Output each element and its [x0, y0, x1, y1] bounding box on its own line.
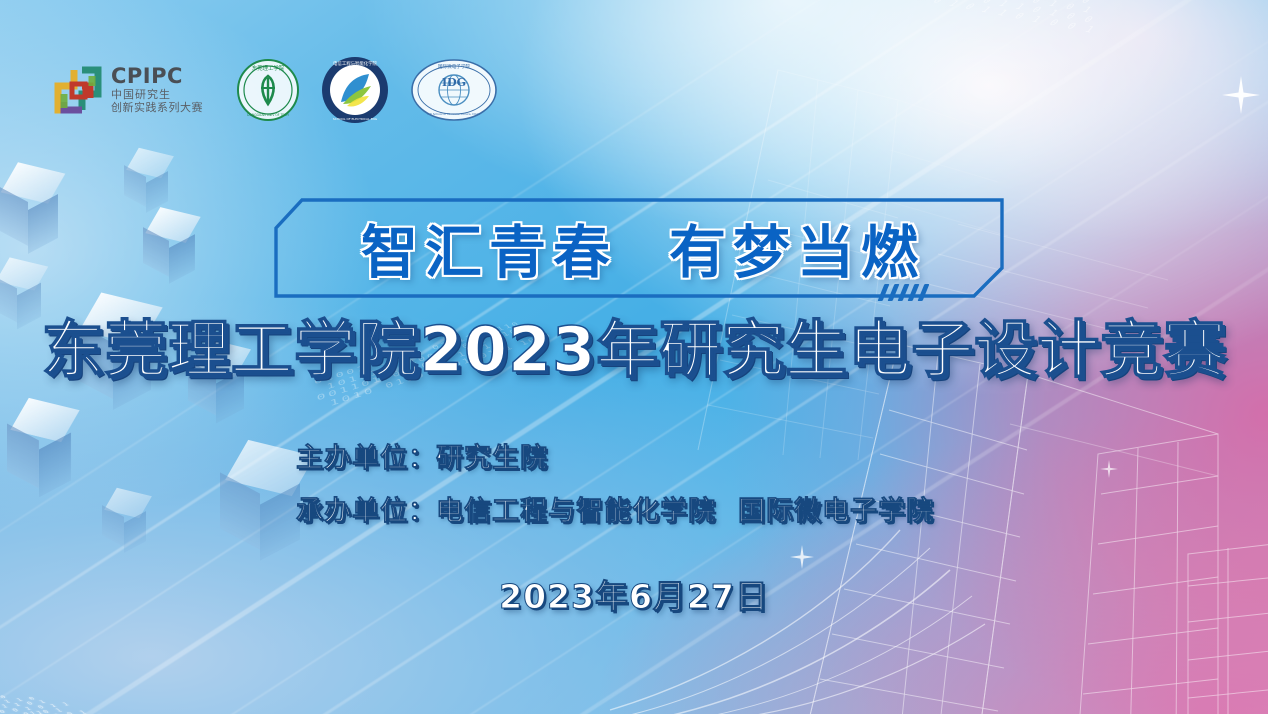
slogan-text: 智汇青春 有梦当燃 — [272, 198, 1004, 298]
organizer-undertaker-label: 承办单位： — [296, 496, 436, 526]
organizer-block: 主办单位：研究生院 承办单位：电信工程与智能化学院国际微电子学院 — [296, 436, 934, 542]
svg-text:DONGGUAN UNIV OF TECH: DONGGUAN UNIV OF TECH — [247, 113, 289, 117]
slogan-banner: 智汇青春 有梦当燃 — [272, 198, 1004, 298]
school-of-electrical-engineering-and-intelligentization-seal: 电信工程与智能化学院 SCHOOL OF ELECTRICAL ENG — [321, 56, 389, 124]
svg-text:IDG: IDG — [442, 76, 466, 89]
poster-canvas: 10110 01001 0 1 0 1 0 logic 0 1 0 1 0 0 … — [0, 0, 1268, 714]
organizer-host-value: 研究生院 — [436, 443, 548, 473]
organizer-line-host: 主办单位：研究生院 — [296, 436, 934, 475]
svg-text:东莞理工学院: 东莞理工学院 — [252, 64, 285, 72]
cpipc-logo: CPIPC 中国研究生 创新实践系列大赛 — [52, 64, 203, 116]
svg-text:SCHOOL OF ELECTRICAL ENG: SCHOOL OF ELECTRICAL ENG — [333, 117, 378, 121]
cpipc-chinese-line-1: 中国研究生 — [111, 90, 203, 101]
organizer-undertaker-value-2: 国际微电子学院 — [738, 496, 934, 526]
dongguan-university-of-technology-seal: 东莞理工学院 DONGGUAN UNIV OF TECH — [237, 59, 299, 121]
cpipc-wordmark: CPIPC 中国研究生 创新实践系列大赛 — [111, 66, 203, 114]
event-date: 2023年6月27日 — [0, 570, 1268, 618]
slogan-part-2: 有梦当燃 — [669, 207, 925, 289]
cpipc-chinese-line-2: 创新实践系列大赛 — [111, 103, 203, 114]
organizer-line-undertaker: 承办单位：电信工程与智能化学院国际微电子学院 — [296, 489, 934, 528]
logo-row: CPIPC 中国研究生 创新实践系列大赛 东莞理工学院 DONGGUAN UNI… — [52, 56, 497, 124]
international-school-of-microelectronics-seal: IDG 国际微电子学院 Intl School of Microelectron… — [411, 59, 497, 121]
slogan-part-1: 智汇青春 — [361, 207, 617, 289]
svg-text:国际微电子学院: 国际微电子学院 — [438, 63, 471, 70]
svg-text:Intl School of Microelectronic: Intl School of Microelectronics, DGUT — [427, 112, 481, 116]
organizer-host-label: 主办单位： — [296, 443, 436, 473]
cpipc-acronym: CPIPC — [111, 66, 203, 87]
organizer-undertaker-value: 电信工程与智能化学院 — [436, 496, 716, 526]
svg-text:电信工程与智能化学院: 电信工程与智能化学院 — [333, 60, 378, 67]
page-title: 东莞理工学院2023年研究生电子设计竞赛 — [0, 299, 1268, 389]
cpipc-mark-icon — [52, 64, 104, 116]
